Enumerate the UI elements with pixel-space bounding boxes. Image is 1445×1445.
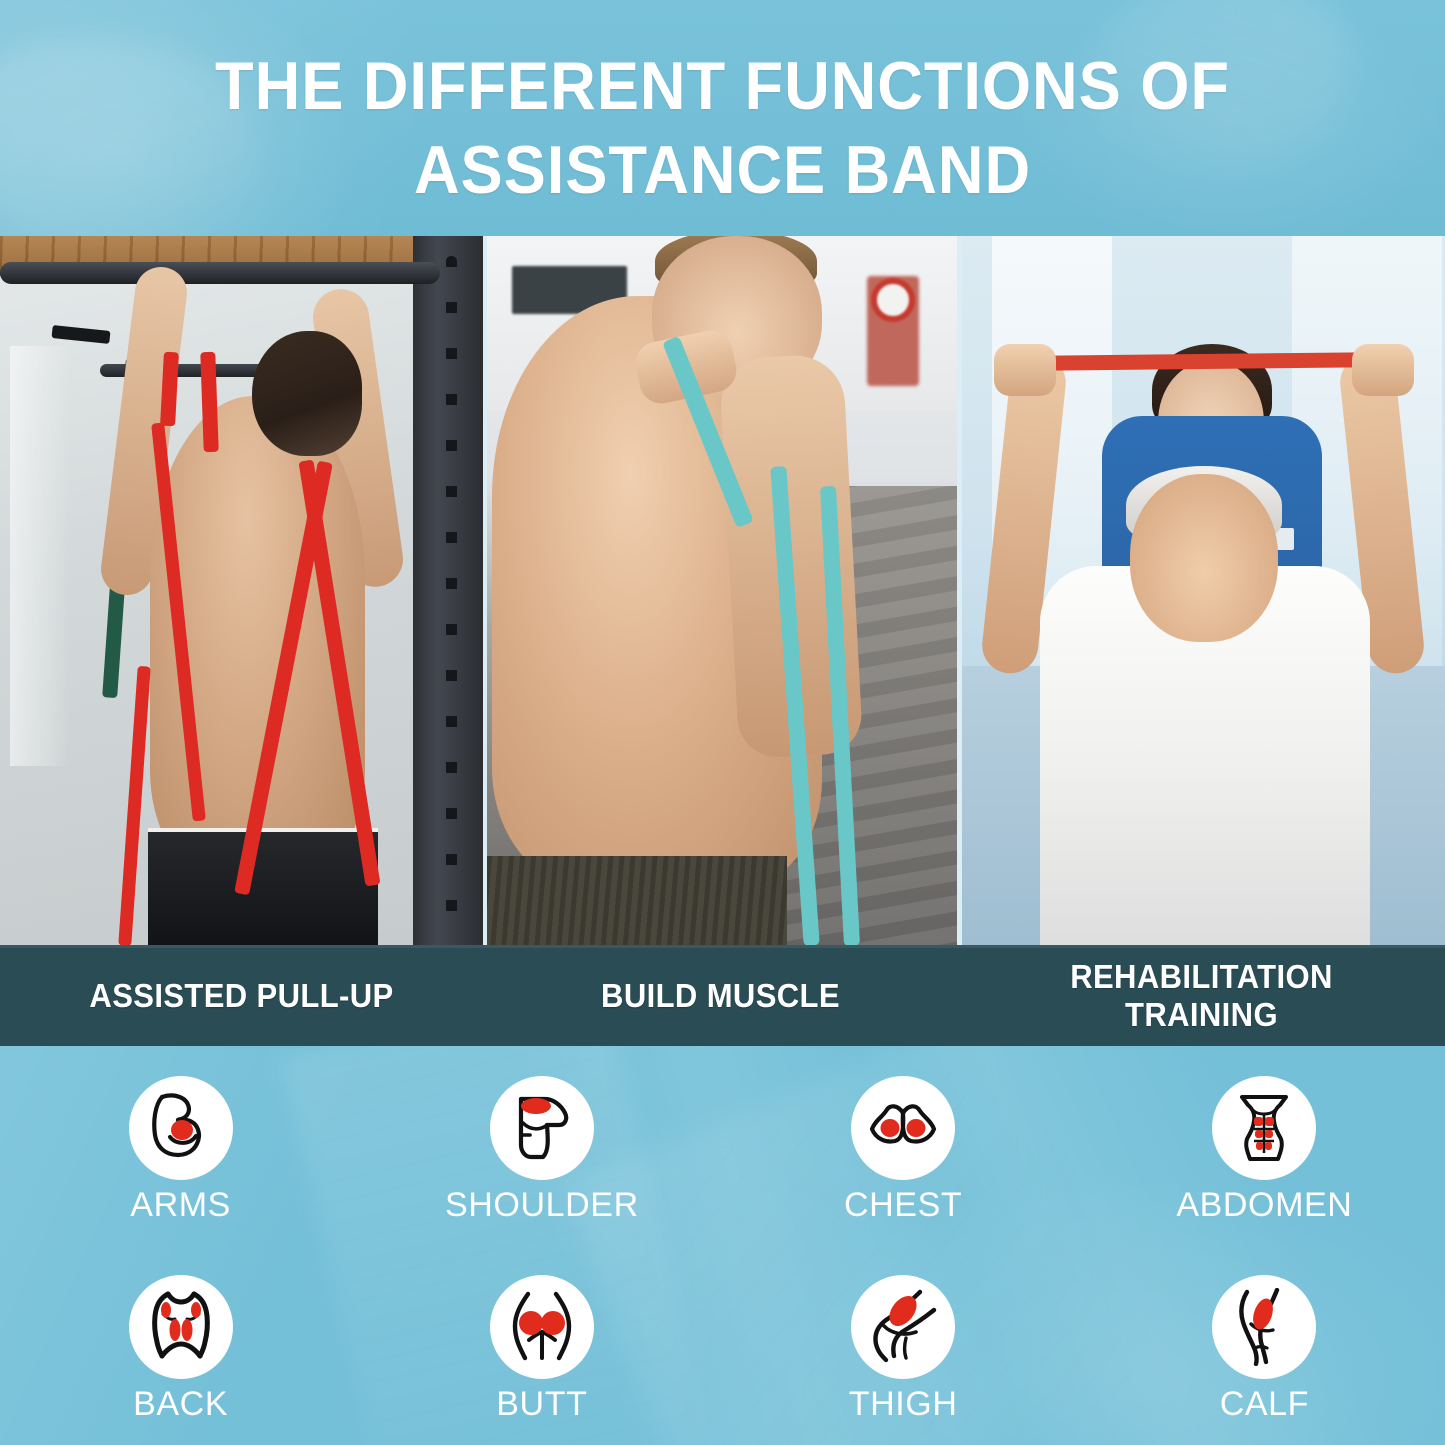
thigh-quad-icon	[864, 1288, 942, 1366]
photo-rehabilitation	[962, 236, 1445, 945]
calf-leg-icon	[1225, 1288, 1303, 1366]
caption-rehab-line2: TRAINING	[1125, 996, 1278, 1033]
caption-rehab-line1: REHABILITATION	[1070, 958, 1333, 995]
page-title: THE DIFFERENT FUNCTIONS OF ASSISTANCE BA…	[51, 0, 1395, 213]
muscle-group-abdomen: ABDOMEN	[1084, 1046, 1445, 1246]
header-banner: THE DIFFERENT FUNCTIONS OF ASSISTANCE BA…	[0, 0, 1445, 236]
muscle-group-chest: CHEST	[723, 1046, 1084, 1246]
p1-head	[252, 331, 362, 456]
muscle-group-arms: ARMS	[0, 1046, 361, 1246]
muscle-group-section: ARMS SHOULDER	[0, 1046, 1445, 1445]
page-title-line1: THE DIFFERENT FUNCTIONS OF	[215, 48, 1230, 124]
muscle-group-back: BACK	[0, 1246, 361, 1445]
chest-label: CHEST	[844, 1188, 962, 1222]
calf-icon-disc	[1212, 1275, 1316, 1379]
calf-label: CALF	[1220, 1387, 1309, 1421]
glutes-icon	[503, 1288, 581, 1366]
thigh-label: THIGH	[849, 1387, 958, 1421]
muscle-group-butt: BUTT	[361, 1246, 722, 1445]
shoulder-label: SHOULDER	[445, 1188, 639, 1222]
back-torso-icon	[142, 1288, 220, 1366]
photo-assisted-pull-up	[0, 236, 483, 945]
chest-icon-disc	[851, 1076, 955, 1180]
p3-patient-left-fist	[994, 344, 1056, 396]
butt-label: BUTT	[496, 1387, 587, 1421]
pectorals-icon	[864, 1089, 942, 1167]
butt-icon-disc	[490, 1275, 594, 1379]
caption-bar: ASSISTED PULL-UP BUILD MUSCLE REHABILITA…	[0, 945, 1445, 1046]
p1-shorts	[148, 832, 378, 945]
muscle-group-thigh: THIGH	[723, 1246, 1084, 1445]
caption-build-muscle: BUILD MUSCLE	[497, 977, 944, 1015]
abdomen-label: ABDOMEN	[1176, 1188, 1352, 1222]
flexed-bicep-icon	[142, 1089, 220, 1167]
photo-build-muscle	[487, 236, 957, 945]
page-title-line2: ASSISTANCE BAND	[51, 128, 1395, 212]
p2-shorts	[487, 856, 787, 945]
arms-label: ARMS	[130, 1188, 231, 1222]
abdomen-icon-disc	[1212, 1076, 1316, 1180]
deltoid-torso-icon	[503, 1089, 581, 1167]
back-icon-disc	[129, 1275, 233, 1379]
muscle-group-shoulder: SHOULDER	[361, 1046, 722, 1246]
p3-patient-right-fist	[1352, 344, 1414, 396]
p1-rack-holes	[446, 256, 457, 936]
back-label: BACK	[133, 1387, 228, 1421]
arms-icon-disc	[129, 1076, 233, 1180]
p1-wall-highlight	[10, 346, 70, 766]
p3-patient-head	[1130, 474, 1278, 642]
shoulder-icon-disc	[490, 1076, 594, 1180]
caption-rehabilitation-training: REHABILITATION TRAINING	[973, 958, 1431, 1033]
caption-assisted-pull-up: ASSISTED PULL-UP	[14, 977, 468, 1015]
infographic-poster: THE DIFFERENT FUNCTIONS OF ASSISTANCE BA…	[0, 0, 1445, 1445]
thigh-icon-disc	[851, 1275, 955, 1379]
six-pack-abs-icon	[1225, 1089, 1303, 1167]
muscle-group-calf: CALF	[1084, 1246, 1445, 1445]
p2-speed-limit-sign	[871, 278, 915, 322]
p1-pull-up-bar	[0, 262, 440, 284]
photo-strip	[0, 236, 1445, 945]
